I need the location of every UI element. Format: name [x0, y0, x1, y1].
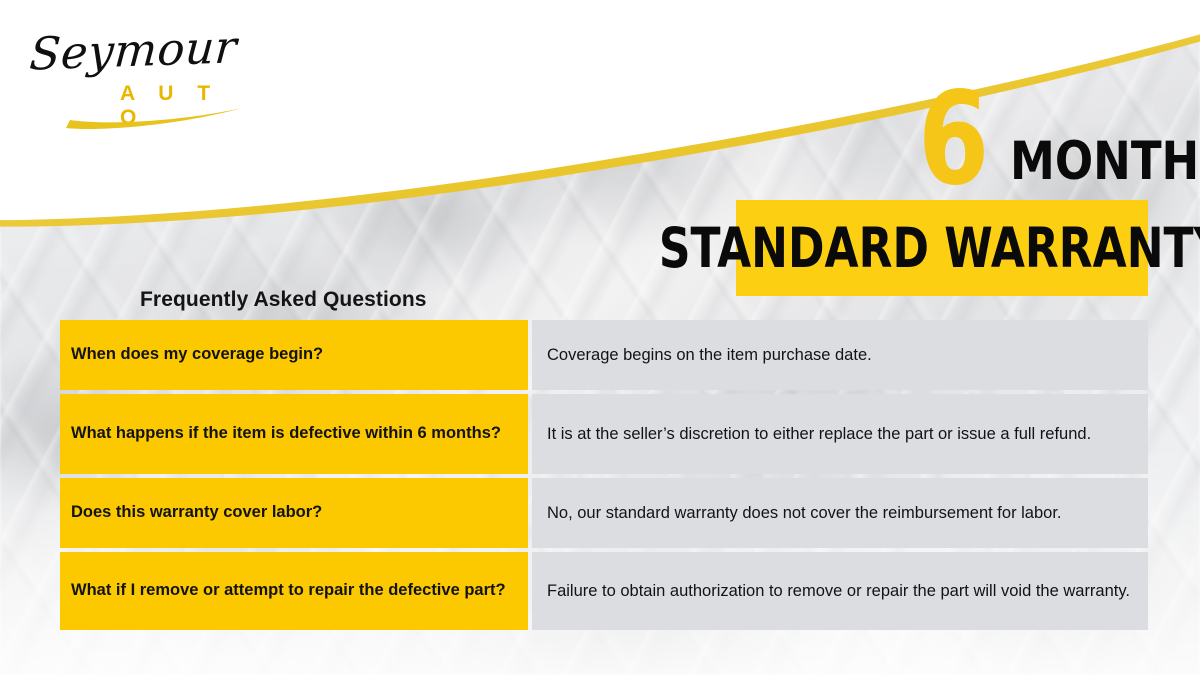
- faq-answer: Coverage begins on the item purchase dat…: [532, 320, 1148, 390]
- duration-unit: MONTH: [1010, 135, 1199, 188]
- warranty-banner-text: STANDARD WARRANTY: [659, 221, 1200, 276]
- faq-answer: No, our standard warranty does not cover…: [532, 478, 1148, 548]
- duration-number: 6: [918, 76, 989, 204]
- faq-question: Does this warranty cover labor?: [60, 478, 528, 548]
- table-row: What happens if the item is defective wi…: [60, 394, 1148, 474]
- faq-table: When does my coverage begin? Coverage be…: [60, 320, 1148, 630]
- faq-question: What happens if the item is defective wi…: [60, 394, 528, 474]
- faq-question: When does my coverage begin?: [60, 320, 528, 390]
- table-row: When does my coverage begin? Coverage be…: [60, 320, 1148, 390]
- seymour-auto-logo: Seymour A U T O: [24, 22, 254, 130]
- table-row: What if I remove or attempt to repair th…: [60, 552, 1148, 630]
- faq-question: What if I remove or attempt to repair th…: [60, 552, 528, 630]
- faq-answer: It is at the seller’s discretion to eith…: [532, 394, 1148, 474]
- standard-warranty-banner: STANDARD WARRANTY: [736, 200, 1148, 296]
- logo-wordmark: Seymour: [28, 20, 239, 80]
- faq-answer: Failure to obtain authorization to remov…: [532, 552, 1148, 630]
- faq-heading: Frequently Asked Questions: [140, 288, 427, 312]
- logo-swoosh-icon: [64, 106, 244, 132]
- duration-headline: 6 MONTH: [918, 78, 1158, 194]
- table-row: Does this warranty cover labor? No, our …: [60, 478, 1148, 548]
- warranty-slide: Seymour A U T O 6 MONTH STANDARD WARRANT…: [0, 0, 1200, 675]
